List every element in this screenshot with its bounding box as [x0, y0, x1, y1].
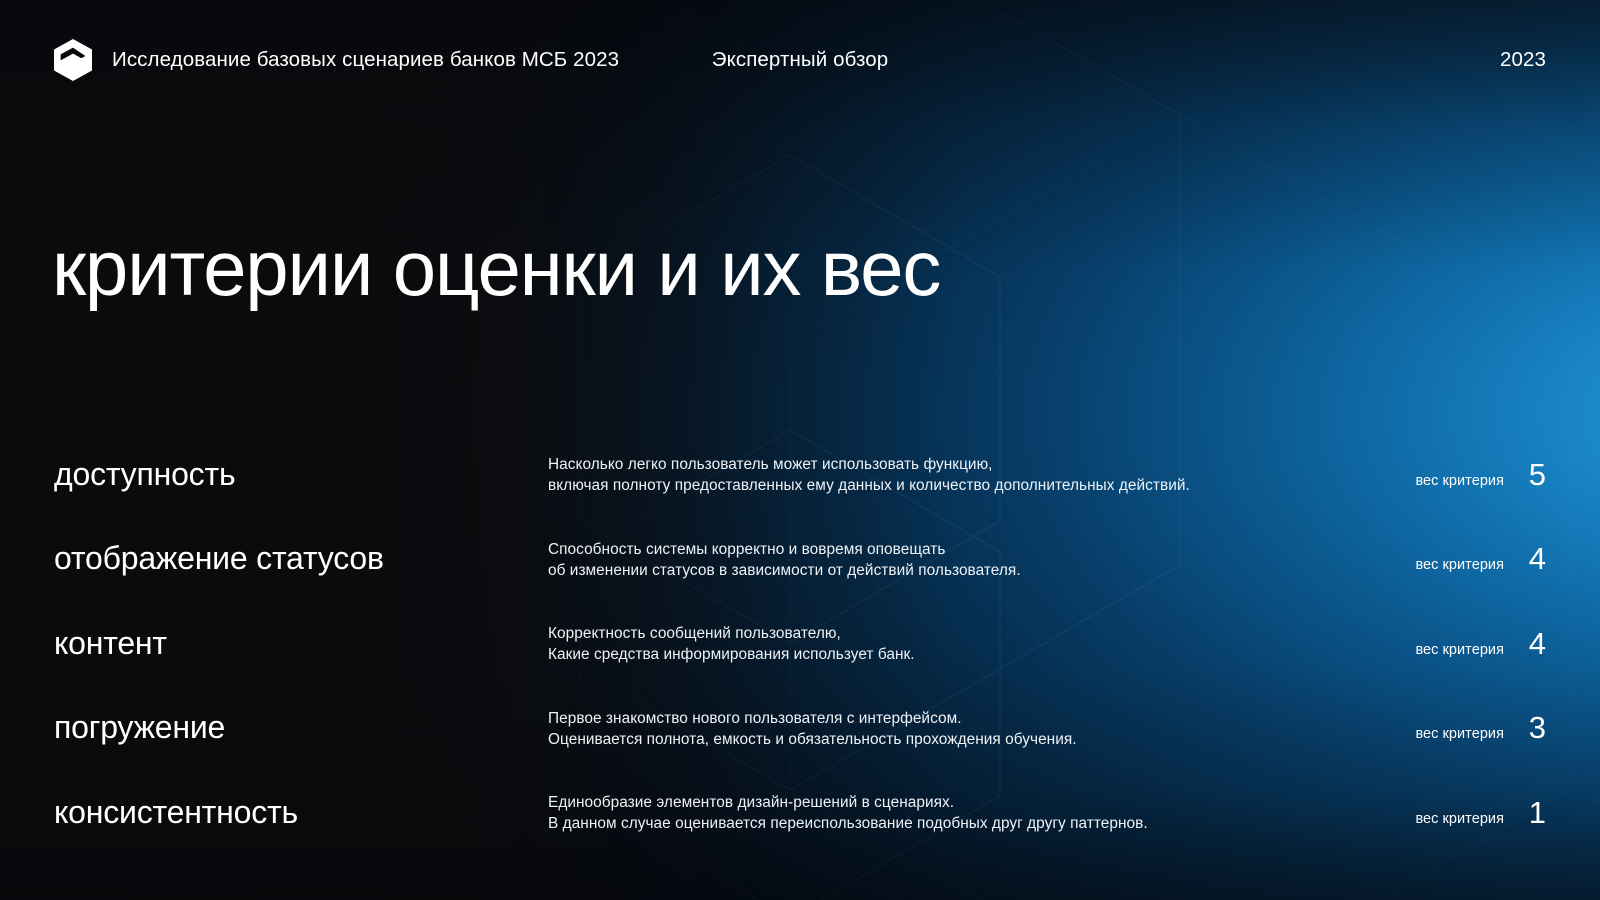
criterion-description: Первое знакомство нового пользователя с … — [548, 706, 1331, 750]
criterion-description: Способность системы корректно и вовремя … — [548, 537, 1331, 581]
criterion-name: доступность — [54, 456, 548, 493]
criterion-row-kontent: контент Корректность сообщений пользоват… — [0, 601, 1600, 686]
criterion-name: погружение — [54, 709, 548, 746]
criterion-name: консистентность — [54, 794, 548, 831]
slide-canvas: Исследование базовых сценариев банков МС… — [0, 0, 1600, 900]
criterion-weight: вес критерия 4 — [1331, 628, 1546, 659]
criterion-weight-label: вес критерия — [1415, 642, 1504, 658]
header-year: 2023 — [1500, 48, 1546, 72]
criterion-weight: вес критерия 4 — [1331, 543, 1546, 574]
criterion-weight-value: 5 — [1504, 459, 1546, 490]
criterion-weight-value: 1 — [1504, 797, 1546, 828]
criterion-weight-label: вес критерия — [1415, 811, 1504, 827]
criterion-row-konsistentnost: консистентность Единообразие элементов д… — [0, 770, 1600, 855]
slide-header: Исследование базовых сценариев банков МС… — [0, 0, 1600, 120]
criterion-description-line-1: Насколько легко пользователь может испол… — [548, 454, 1331, 475]
criterion-weight-value: 3 — [1504, 712, 1546, 743]
criterion-description-line-2: Оценивается полнота, емкость и обязатель… — [548, 729, 1331, 750]
criterion-description: Корректность сообщений пользователю, Как… — [548, 621, 1331, 665]
criterion-description-line-1: Корректность сообщений пользователю, — [548, 623, 1331, 644]
criterion-name: контент — [54, 625, 548, 662]
criterion-weight: вес критерия 3 — [1331, 712, 1546, 743]
criterion-description-line-1: Первое знакомство нового пользователя с … — [548, 708, 1331, 729]
criterion-description: Единообразие элементов дизайн-решений в … — [548, 790, 1331, 834]
criterion-weight: вес критерия 5 — [1331, 459, 1546, 490]
criterion-weight-value: 4 — [1504, 543, 1546, 574]
criterion-description-line-2: Какие средства информирования использует… — [548, 644, 1331, 665]
hexagon-g-logo-icon — [54, 39, 92, 81]
criterion-row-pogruzhenie: погружение Первое знакомство нового поль… — [0, 686, 1600, 771]
criterion-description-line-1: Способность системы корректно и вовремя … — [548, 539, 1331, 560]
criterion-description-line-2: об изменении статусов в зависимости от д… — [548, 560, 1331, 581]
page-title: критерии оценки и их вес — [52, 228, 940, 310]
criterion-description-line-2: включая полноту предоставленных ему данн… — [548, 475, 1331, 496]
criterion-weight-label: вес критерия — [1415, 726, 1504, 742]
criteria-list: доступность Насколько легко пользователь… — [0, 432, 1600, 855]
criterion-row-otobrazhenie-statusov: отображение статусов Способность системы… — [0, 517, 1600, 602]
criterion-description-line-1: Единообразие элементов дизайн-решений в … — [548, 792, 1331, 813]
criterion-weight-value: 4 — [1504, 628, 1546, 659]
criterion-description-line-2: В данном случае оценивается переиспользо… — [548, 813, 1331, 834]
criterion-weight-label: вес критерия — [1415, 473, 1504, 489]
criterion-row-dostupnost: доступность Насколько легко пользователь… — [0, 432, 1600, 517]
criterion-name: отображение статусов — [54, 540, 548, 577]
criterion-weight: вес критерия 1 — [1331, 797, 1546, 828]
header-title: Исследование базовых сценариев банков МС… — [112, 48, 619, 72]
criterion-description: Насколько легко пользователь может испол… — [548, 452, 1331, 496]
criterion-weight-label: вес критерия — [1415, 557, 1504, 573]
